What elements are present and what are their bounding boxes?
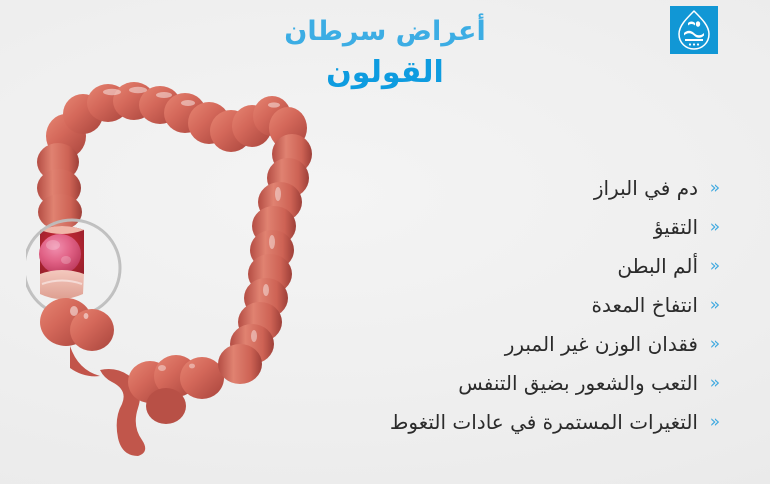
list-item: « التقيؤ (128, 207, 728, 246)
symptom-label: فقدان الوزن غير المبرر (505, 332, 702, 356)
list-item: « التغيرات المستمرة في عادات التغوط (128, 402, 728, 441)
symptom-list: « دم في البراز « التقيؤ « ألم البطن « ان… (128, 168, 728, 441)
chevron-left-icon: « (702, 257, 728, 275)
chevron-left-icon: « (702, 335, 728, 353)
ascending-colon (37, 143, 82, 230)
chevron-left-icon: « (702, 179, 728, 197)
cecum (40, 298, 114, 376)
symptom-label: دم في البراز (594, 176, 702, 200)
symptom-label: التعب والشعور بضيق التنفس (458, 371, 702, 395)
transverse-colon (46, 82, 307, 158)
list-item: « دم في البراز (128, 168, 728, 207)
list-item: « التعب والشعور بضيق التنفس (128, 363, 728, 402)
chevron-left-icon: « (702, 296, 728, 314)
chevron-left-icon: « (702, 218, 728, 236)
chevron-left-icon: « (702, 374, 728, 392)
list-item: « انتفاخ المعدة (128, 285, 728, 324)
symptom-label: التقيؤ (654, 215, 702, 239)
infographic-canvas: أعراض سرطان القولون (0, 0, 770, 484)
list-item: « ألم البطن (128, 246, 728, 285)
symptom-label: انتفاخ المعدة (592, 293, 702, 317)
symptom-label: التغيرات المستمرة في عادات التغوط (390, 410, 702, 434)
chevron-left-icon: « (702, 413, 728, 431)
list-item: « فقدان الوزن غير المبرر (128, 324, 728, 363)
symptom-label: ألم البطن (617, 254, 702, 278)
page-title-line-1: أعراض سرطان (0, 18, 770, 45)
